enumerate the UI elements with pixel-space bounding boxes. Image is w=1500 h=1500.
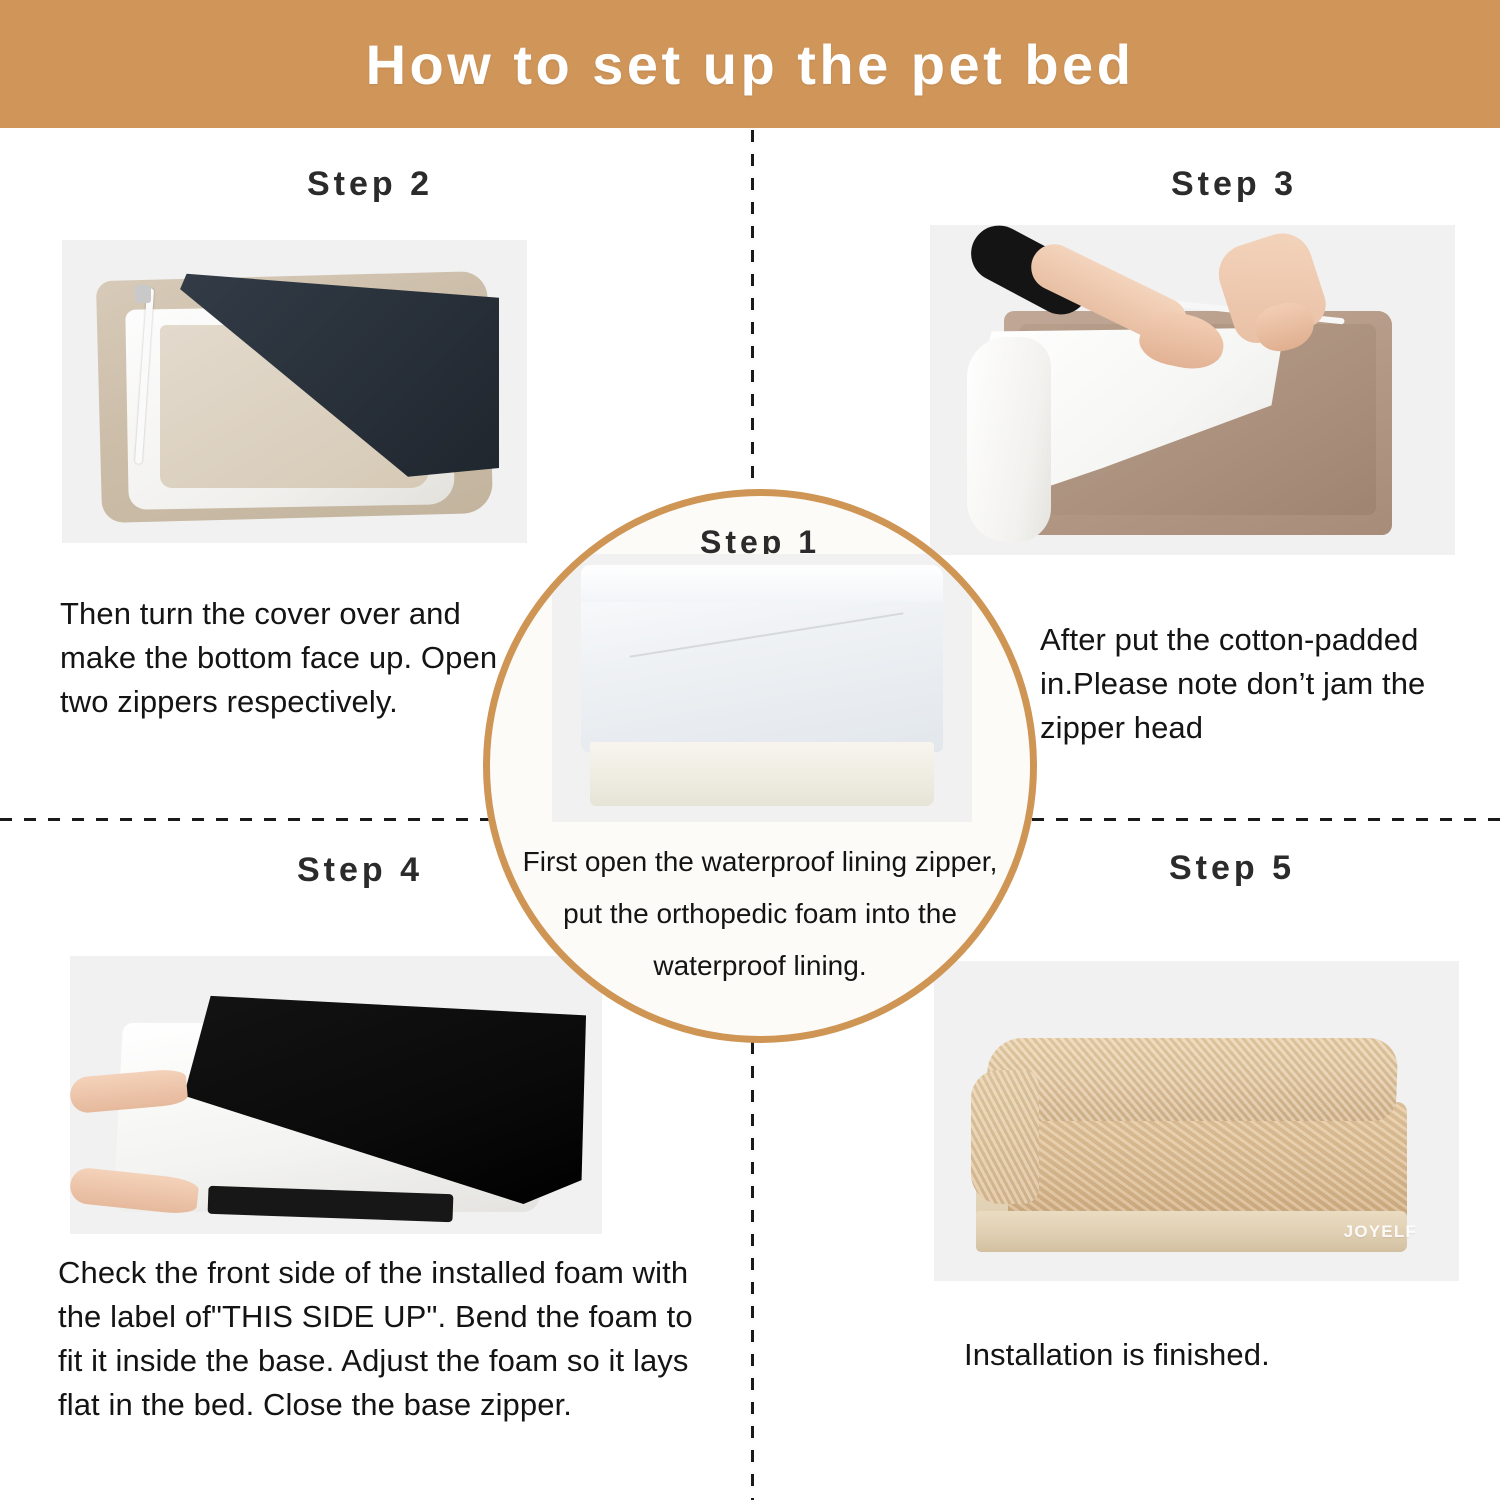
step-4-photo xyxy=(70,956,602,1234)
step-2-caption: Then turn the cover over and make the bo… xyxy=(60,592,500,724)
step-2-label: Step 2 xyxy=(130,165,610,204)
page-header-banner: How to set up the pet bed xyxy=(0,0,1500,128)
step-5-caption: Installation is finished. xyxy=(964,1333,1464,1377)
white-padding-roll xyxy=(967,337,1051,542)
step-5-label: Step 5 xyxy=(992,849,1472,888)
page-title: How to set up the pet bed xyxy=(366,32,1135,97)
brand-logo-label: JOYELF xyxy=(1344,1222,1417,1242)
step-4-caption: Check the front side of the installed fo… xyxy=(58,1251,723,1427)
bed-back-bolster xyxy=(985,1038,1397,1121)
infographic-page: How to set up the pet bed Step 2 Then tu… xyxy=(0,0,1500,1500)
step-1-circle-panel: Step 1 First open the waterproof lining … xyxy=(483,489,1037,1043)
step-1-photo xyxy=(552,554,972,822)
step-3-caption: After put the cotton-padded in.Please no… xyxy=(1040,618,1460,750)
zipper-pull-icon xyxy=(135,285,151,303)
step-3-label: Step 3 xyxy=(994,165,1474,204)
bed-side-bolster xyxy=(971,1070,1039,1204)
step-1-caption: First open the waterproof lining zipper,… xyxy=(508,836,1012,991)
orthopedic-foam xyxy=(590,742,934,806)
bed-base xyxy=(976,1211,1407,1253)
step-2-photo xyxy=(62,240,527,543)
step-5-photo: JOYELF xyxy=(934,961,1459,1281)
step-3-photo xyxy=(930,225,1455,555)
waterproof-lining-top-edge xyxy=(581,565,942,603)
